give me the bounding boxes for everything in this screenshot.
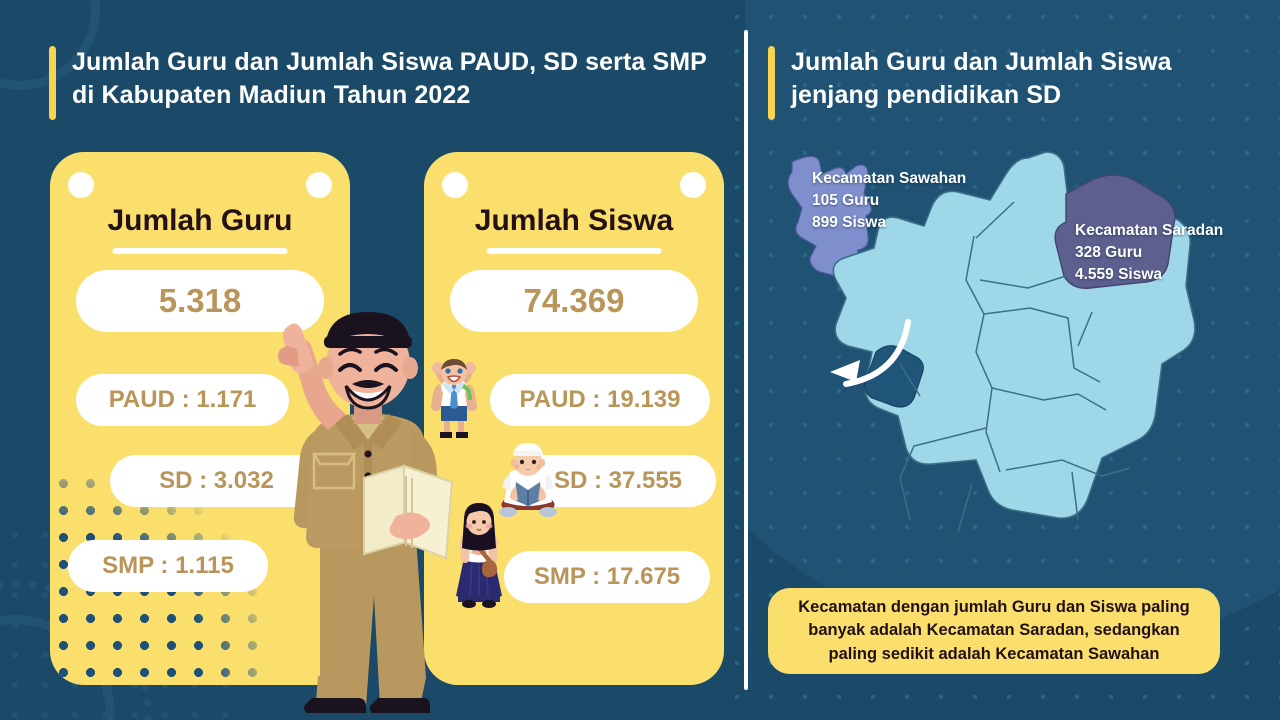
map-label-saradan: Kecamatan Saradan 328 Guru 4.559 Siswa <box>1075 220 1223 286</box>
card-heading-underline <box>113 248 288 254</box>
card-punch-hole-right <box>680 172 706 198</box>
card-heading-underline <box>487 248 662 254</box>
right-title-text: Jumlah Guru dan Jumlah Siswa jenjang pen… <box>791 46 1228 112</box>
card-punch-hole-left <box>442 172 468 198</box>
map-pointer-arrowhead <box>830 360 860 382</box>
title-accent-bar <box>768 46 775 120</box>
left-panel-title: Jumlah Guru dan Jumlah Siswa PAUD, SD se… <box>49 46 709 120</box>
map-label-sawahan-name: Kecamatan Sawahan <box>812 168 966 190</box>
map-region: Kecamatan Sawahan 105 Guru 899 Siswa Kec… <box>760 140 1240 570</box>
siswa-total-pill: 74.369 <box>450 270 698 332</box>
card-punch-hole-left <box>68 172 94 198</box>
card-heading-siswa: Jumlah Siswa <box>424 204 724 238</box>
guru-smp-pill: SMP : 1.115 <box>68 540 268 592</box>
siswa-paud-pill: PAUD : 19.139 <box>490 374 710 426</box>
student-cheering-illustration <box>424 358 484 442</box>
map-label-sawahan: Kecamatan Sawahan 105 Guru 899 Siswa <box>812 168 966 234</box>
map-label-sawahan-students: 899 Siswa <box>812 212 966 234</box>
title-accent-bar <box>49 46 56 120</box>
guru-paud-pill: PAUD : 1.171 <box>76 374 289 426</box>
siswa-smp-pill: SMP : 17.675 <box>504 551 710 603</box>
map-label-saradan-name: Kecamatan Saradan <box>1075 220 1223 242</box>
map-label-saradan-teachers: 328 Guru <box>1075 242 1223 264</box>
map-label-saradan-students: 4.559 Siswa <box>1075 264 1223 286</box>
panel-divider <box>744 30 748 690</box>
card-heading-guru: Jumlah Guru <box>50 204 350 238</box>
student-girl-illustration <box>448 500 510 610</box>
right-panel-title: Jumlah Guru dan Jumlah Siswa jenjang pen… <box>768 46 1228 120</box>
map-caption: Kecamatan dengan jumlah Guru dan Siswa p… <box>768 588 1220 674</box>
map-label-sawahan-teachers: 105 Guru <box>812 190 966 212</box>
card-punch-hole-right <box>306 172 332 198</box>
left-title-text: Jumlah Guru dan Jumlah Siswa PAUD, SD se… <box>72 46 709 112</box>
